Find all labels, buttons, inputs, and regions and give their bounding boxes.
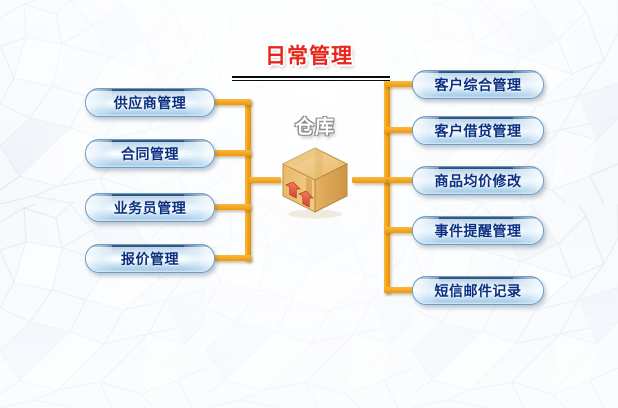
node-button-label: 商品均价修改 <box>435 171 522 191</box>
node-button-label: 客户综合管理 <box>435 75 522 95</box>
pill-right-cap <box>184 140 214 167</box>
node-button-label: 短信邮件记录 <box>435 281 522 301</box>
node-button-label: 供应商管理 <box>114 93 187 113</box>
page-title: 日常管理 <box>0 40 618 70</box>
node-button-label: 合同管理 <box>121 144 179 164</box>
node-button-customer-credit-management[interactable]: 客户借贷管理 <box>412 116 544 145</box>
pill-right-cap <box>184 194 214 221</box>
pill-right-cap <box>184 245 214 272</box>
diagram-canvas: 日常管理 仓库 <box>0 0 618 408</box>
title-divider <box>232 76 390 82</box>
node-button-label: 事件提醒管理 <box>435 221 522 241</box>
left-bracket-stub-4 <box>213 255 251 261</box>
cardboard-box-icon <box>277 142 353 220</box>
left-bracket-stub-1 <box>213 99 251 105</box>
center-node-label: 仓库 <box>284 112 346 139</box>
node-button-supplier-management[interactable]: 供应商管理 <box>85 88 215 117</box>
node-button-product-average-price-edit[interactable]: 商品均价修改 <box>412 166 544 195</box>
node-button-customer-overview-management[interactable]: 客户综合管理 <box>412 70 544 99</box>
pill-left-cap <box>86 194 112 221</box>
node-button-label: 客户借贷管理 <box>435 121 522 141</box>
node-button-event-reminder-management[interactable]: 事件提醒管理 <box>412 216 544 245</box>
right-bracket-center-connector <box>352 177 386 183</box>
node-button-label: 报价管理 <box>121 249 179 269</box>
node-button-label: 业务员管理 <box>114 198 187 218</box>
right-bracket-spine <box>384 81 390 293</box>
pill-left-cap <box>86 89 112 116</box>
pill-right-cap <box>184 89 214 116</box>
node-button-sms-email-log[interactable]: 短信邮件记录 <box>412 276 544 305</box>
node-button-quotation-management[interactable]: 报价管理 <box>85 244 215 273</box>
node-button-contract-management[interactable]: 合同管理 <box>85 139 215 168</box>
left-bracket-stub-3 <box>213 204 251 210</box>
pill-left-cap <box>86 245 112 272</box>
pill-left-cap <box>86 140 112 167</box>
node-button-salesperson-management[interactable]: 业务员管理 <box>85 193 215 222</box>
left-bracket-stub-2 <box>213 150 251 156</box>
